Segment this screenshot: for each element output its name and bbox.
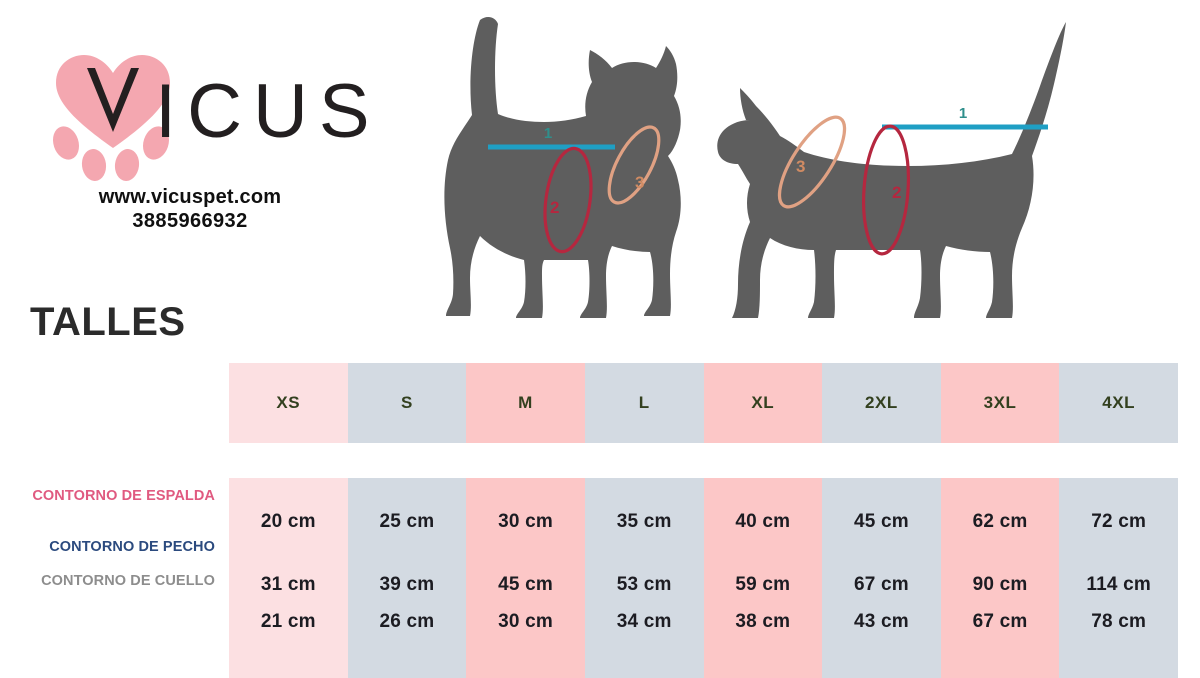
cell-pecho-2xl: 67 cm: [822, 566, 941, 604]
cell-cuello-s: 26 cm: [348, 604, 467, 640]
cell-espalda-xs: 20 cm: [229, 500, 348, 544]
pad-cell: [585, 544, 704, 566]
pad-cell: [704, 640, 823, 678]
data-pad-mid: [229, 544, 1178, 566]
cell-pecho-xs: 31 cm: [229, 566, 348, 604]
cell-cuello-xl: 38 cm: [704, 604, 823, 640]
pad-cell: [229, 478, 348, 500]
pad-cell: [348, 478, 467, 500]
pad-cell: [822, 478, 941, 500]
row-label-contorno-de-espalda: CONTORNO DE ESPALDA: [0, 488, 215, 504]
cell-espalda-l: 35 cm: [585, 500, 704, 544]
dog-silhouette: [717, 22, 1066, 318]
cell-espalda-4xl: 72 cm: [1059, 500, 1178, 544]
size-header-row: XS S M L XL 2XL 3XL 4XL: [229, 363, 1178, 443]
table-gap: [229, 443, 1178, 478]
pad-cell: [822, 544, 941, 566]
pad-cell: [822, 640, 941, 678]
cell-espalda-m: 30 cm: [466, 500, 585, 544]
size-header-l[interactable]: L: [585, 363, 704, 443]
size-header-xl[interactable]: XL: [704, 363, 823, 443]
pad-cell: [941, 478, 1060, 500]
pad-cell: [466, 544, 585, 566]
cell-pecho-xl: 59 cm: [704, 566, 823, 604]
pad-cell: [466, 640, 585, 678]
svg-text:1: 1: [544, 125, 552, 142]
pad-cell: [1059, 544, 1178, 566]
cell-pecho-m: 45 cm: [466, 566, 585, 604]
cell-pecho-l: 53 cm: [585, 566, 704, 604]
size-header-s[interactable]: S: [348, 363, 467, 443]
dog-measure-1-back: 1: [882, 105, 1048, 127]
row-label-contorno-de-pecho: CONTORNO DE PECHO: [0, 539, 215, 555]
cell-cuello-3xl: 67 cm: [941, 604, 1060, 640]
pad-cell: [348, 544, 467, 566]
table-row-contorno-de-cuello: 21 cm 26 cm 30 cm 34 cm 38 cm 43 cm 67 c…: [229, 604, 1178, 640]
size-chart-table: XS S M L XL 2XL 3XL 4XL 20 cm 25 cm 30 c…: [229, 363, 1178, 678]
cat-measure-3-label: 3: [635, 173, 644, 192]
cell-cuello-xs: 21 cm: [229, 604, 348, 640]
pad-cell: [1059, 478, 1178, 500]
row-label-contorno-de-cuello: CONTORNO DE CUELLO: [0, 573, 215, 589]
cell-cuello-l: 34 cm: [585, 604, 704, 640]
size-header-m[interactable]: M: [466, 363, 585, 443]
cell-pecho-4xl: 114 cm: [1059, 566, 1178, 604]
size-data-block: 20 cm 25 cm 30 cm 35 cm 40 cm 45 cm 62 c…: [229, 478, 1178, 678]
pet-measurement-illustration: 1 2 3 1 2 3: [420, 10, 1160, 340]
pad-cell: [941, 544, 1060, 566]
cell-espalda-xl: 40 cm: [704, 500, 823, 544]
cell-espalda-s: 25 cm: [348, 500, 467, 544]
size-header-3xl[interactable]: 3XL: [941, 363, 1060, 443]
pad-cell: [1059, 640, 1178, 678]
cell-pecho-s: 39 cm: [348, 566, 467, 604]
dog-measure-2-label: 2: [892, 183, 901, 202]
size-header-4xl[interactable]: 4XL: [1059, 363, 1178, 443]
size-header-2xl[interactable]: 2XL: [822, 363, 941, 443]
pad-cell: [229, 640, 348, 678]
pad-cell: [941, 640, 1060, 678]
cat-silhouette: [444, 17, 680, 318]
table-row-contorno-de-pecho: 31 cm 39 cm 45 cm 53 cm 59 cm 67 cm 90 c…: [229, 566, 1178, 604]
data-pad-top: [229, 478, 1178, 500]
pad-cell: [466, 478, 585, 500]
cell-cuello-4xl: 78 cm: [1059, 604, 1178, 640]
table-row-contorno-de-espalda: 20 cm 25 cm 30 cm 35 cm 40 cm 45 cm 62 c…: [229, 500, 1178, 544]
pad-cell: [704, 478, 823, 500]
cat-measure-2-label: 2: [550, 198, 559, 217]
cell-pecho-3xl: 90 cm: [941, 566, 1060, 604]
pad-cell: [704, 544, 823, 566]
cell-espalda-2xl: 45 cm: [822, 500, 941, 544]
pad-cell: [585, 478, 704, 500]
svg-text:1: 1: [959, 105, 967, 122]
size-header-xs[interactable]: XS: [229, 363, 348, 443]
cell-cuello-m: 30 cm: [466, 604, 585, 640]
pad-cell: [229, 544, 348, 566]
dog-measure-3-label: 3: [796, 157, 805, 176]
row-label-column: CONTORNO DE ESPALDA CONTORNO DE PECHO CO…: [0, 0, 215, 675]
cell-cuello-2xl: 43 cm: [822, 604, 941, 640]
pad-cell: [585, 640, 704, 678]
data-pad-bottom: [229, 640, 1178, 678]
cell-espalda-3xl: 62 cm: [941, 500, 1060, 544]
pad-cell: [348, 640, 467, 678]
